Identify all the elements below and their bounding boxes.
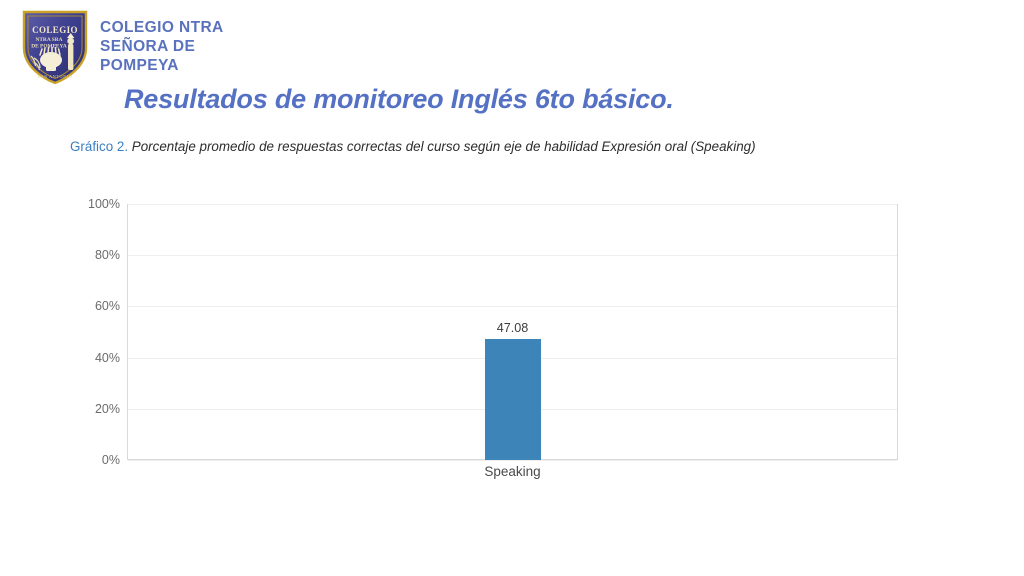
gridline <box>128 460 897 461</box>
x-axis-tick-label: Speaking <box>433 464 593 479</box>
y-axis-tick-label: 20% <box>0 402 120 416</box>
slide-header: COLEGIO NTRA SRA DE POMPEYA SAN ANTONIO … <box>0 0 1024 90</box>
y-axis-tick-label: 60% <box>0 299 120 313</box>
school-name-line-2: SEÑORA DE <box>100 37 400 56</box>
y-axis-tick-label: 80% <box>0 248 120 262</box>
page-title: Resultados de monitoreo Inglés 6to básic… <box>124 84 674 115</box>
school-name-line-1: COLEGIO NTRA <box>100 18 400 37</box>
bar-group[interactable]: 47.08 <box>485 204 541 460</box>
bar-speaking[interactable] <box>485 339 541 460</box>
y-axis-tick-label: 100% <box>0 197 120 211</box>
school-name: COLEGIO NTRA SEÑORA DE POMPEYA <box>100 18 400 75</box>
y-axis-tick-label: 40% <box>0 351 120 365</box>
svg-text:SAN ANTONIO: SAN ANTONIO <box>38 74 73 79</box>
chart-caption-text: Porcentaje promedio de respuestas correc… <box>128 139 756 154</box>
chart-caption-label: Gráfico 2. <box>70 139 128 154</box>
y-axis-tick-label: 0% <box>0 453 120 467</box>
bar-chart: 47.08 0%20%40%60%80%100% Speaking <box>60 196 920 486</box>
bar-value-label: 47.08 <box>455 321 571 335</box>
svg-text:NTRA SRA: NTRA SRA <box>35 37 62 43</box>
school-name-line-3: POMPEYA <box>100 56 400 75</box>
bars-layer: 47.08 <box>127 204 898 460</box>
school-crest-logo: COLEGIO NTRA SRA DE POMPEYA SAN ANTONIO <box>18 8 92 86</box>
chart-caption: Gráfico 2. Porcentaje promedio de respue… <box>70 139 756 154</box>
